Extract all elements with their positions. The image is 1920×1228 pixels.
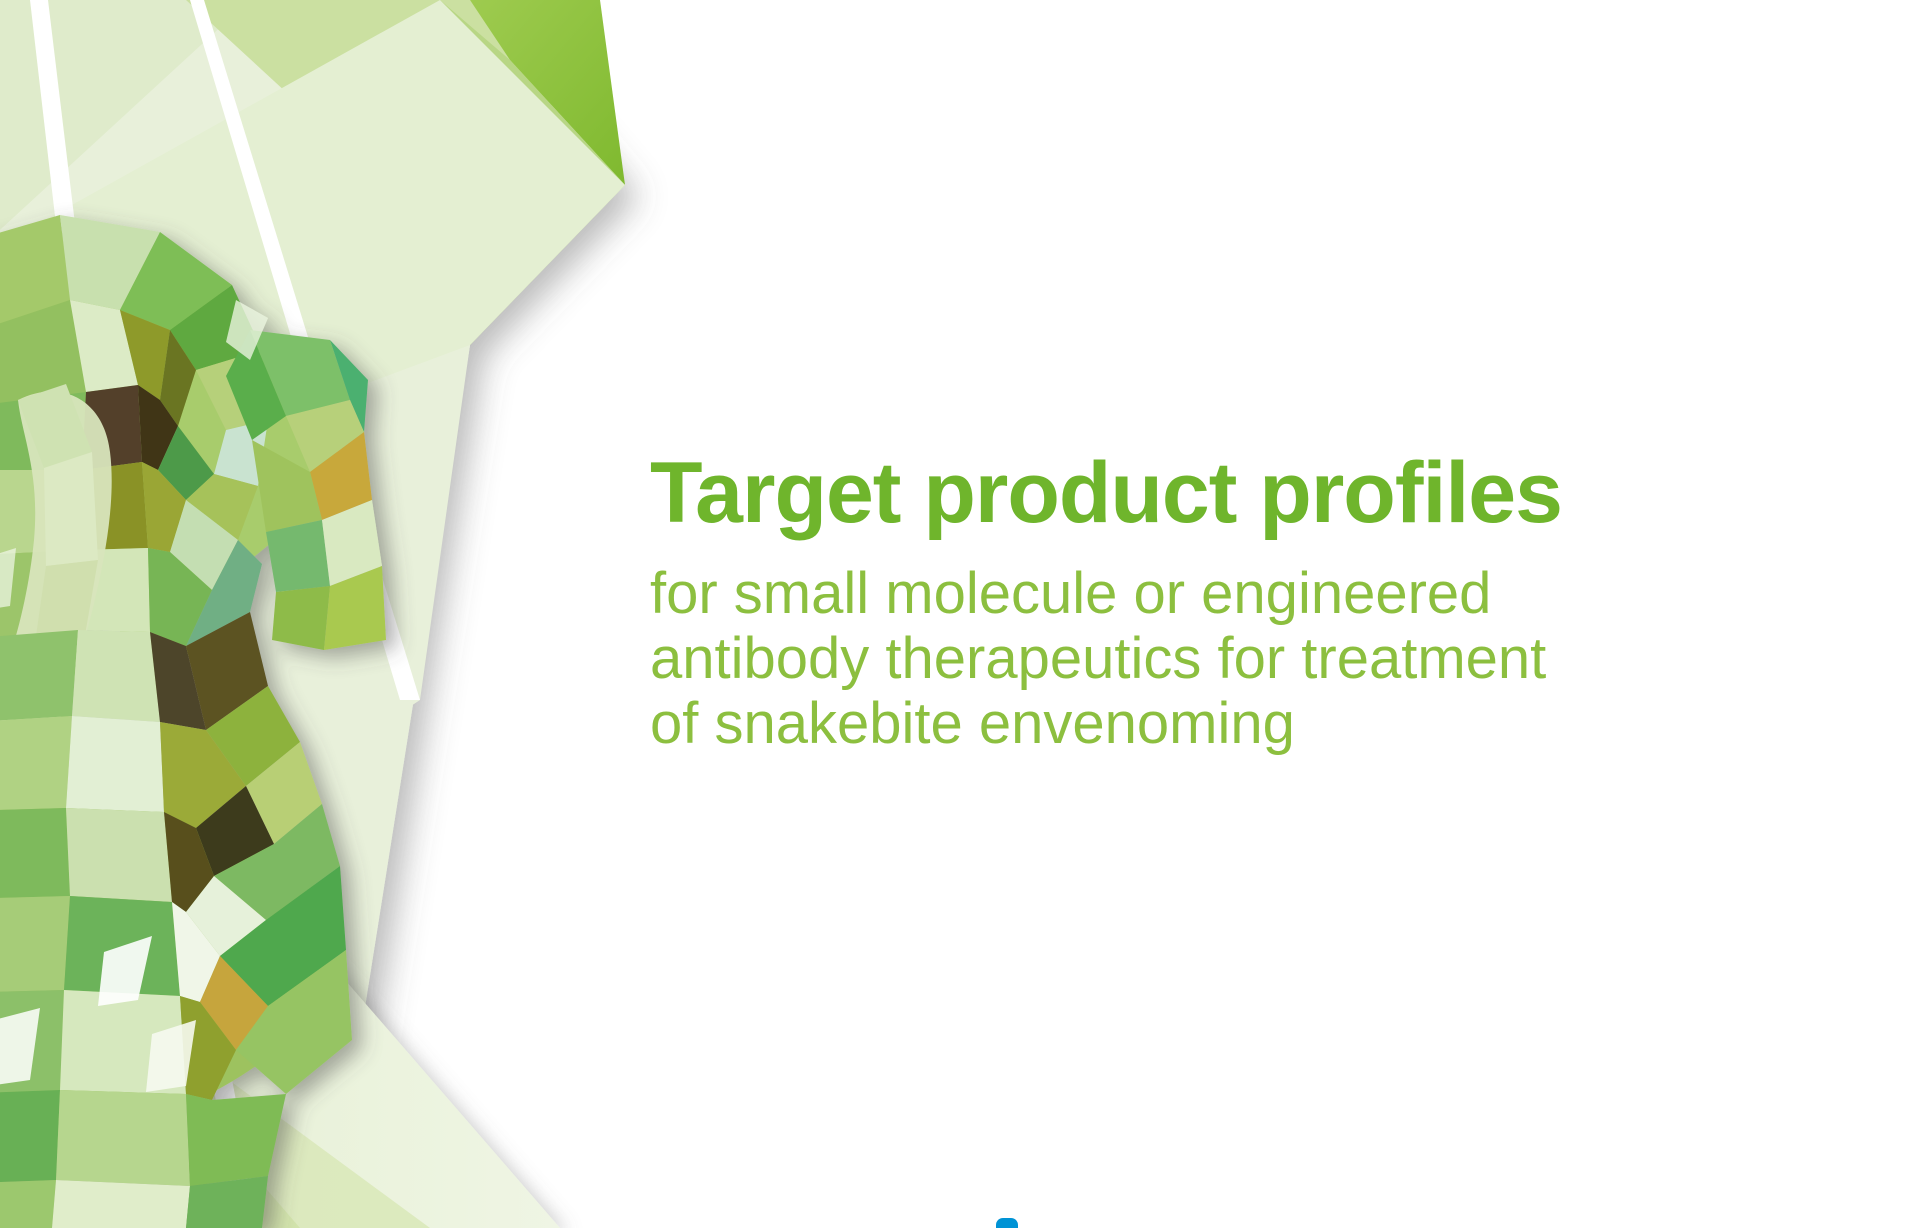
- art-base-polygon: [0, 0, 625, 1228]
- subtitle-line-3: of snakebite envenoming: [650, 692, 1830, 757]
- art-stripe-white-bottom: [200, 1005, 260, 1228]
- subtitle-line-1: for small molecule or engineered: [650, 562, 1830, 627]
- art-plane-lower: [0, 345, 470, 980]
- art-band-bottom-pale: [40, 1000, 430, 1228]
- publisher-logo: [996, 1218, 1024, 1228]
- art-stripe-white-second: [190, 0, 420, 700]
- art-stripe-white-upper: [30, 0, 196, 1228]
- art-band-bottom-right: [120, 905, 560, 1228]
- art-band-bottom-green: [0, 880, 300, 1228]
- subtitle-line-2: antibody therapeutics for treatment: [650, 627, 1830, 692]
- page-title: Target product profiles: [650, 450, 1830, 536]
- art-triangle-mid-green: [330, 0, 625, 345]
- art-fold-top-light: [186, 0, 555, 105]
- art-plane-mid: [0, 0, 470, 700]
- art-triangle-pale-fold: [0, 0, 625, 520]
- art-wedge-upper-left: [0, 0, 250, 230]
- report-cover-page: Target product profiles for small molecu…: [0, 0, 1920, 1228]
- art-wedge-top-right-bright: [470, 0, 625, 185]
- publisher-logo-emblem-icon: [996, 1218, 1018, 1228]
- low-poly-snake: [0, 215, 386, 1228]
- cover-title-block: Target product profiles for small molecu…: [650, 450, 1830, 757]
- page-subtitle: for small molecule or engineered antibod…: [650, 562, 1830, 757]
